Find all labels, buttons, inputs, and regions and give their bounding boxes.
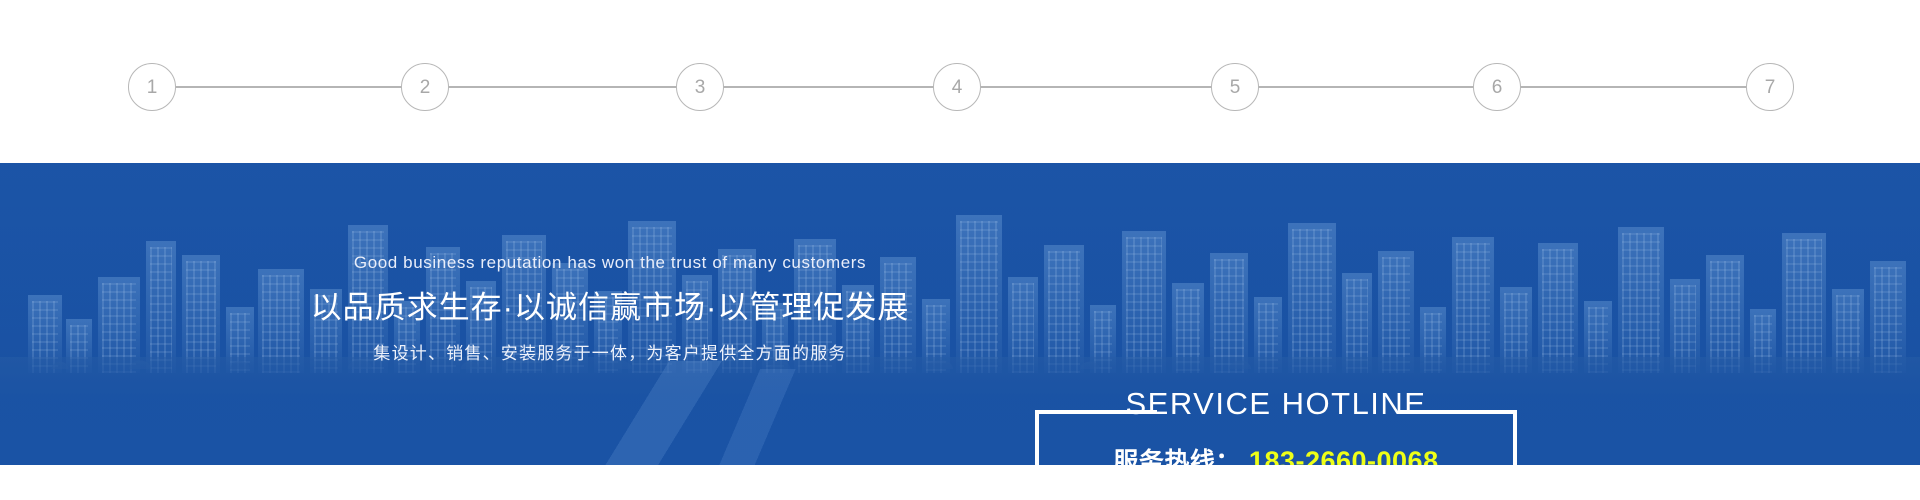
step-circle-6[interactable]: 6	[1473, 63, 1521, 111]
step-circle-4[interactable]: 4	[933, 63, 981, 111]
step-progress-bar: 1 2 3 4 5 6 7	[0, 0, 1920, 163]
step-label-1: 1	[147, 78, 158, 97]
slogan-chinese-headline: 以品质求生存·以诚信赢市场·以管理促发展	[300, 289, 920, 328]
step-label-3: 3	[695, 78, 706, 97]
step-label-7: 7	[1765, 78, 1776, 97]
page-root: 1 2 3 4 5 6 7	[0, 0, 1920, 500]
step-label-5: 5	[1230, 78, 1241, 97]
step-label-2: 2	[420, 78, 431, 97]
hotline-row-primary: 服务热线： 183-2660-0068	[1035, 444, 1517, 465]
promo-banner: Good business reputation has won the tru…	[0, 163, 1920, 465]
foreground-ground	[0, 357, 1920, 465]
step-circle-1[interactable]: 1	[128, 63, 176, 111]
slogan-english: Good business reputation has won the tru…	[300, 251, 920, 275]
step-circle-3[interactable]: 3	[676, 63, 724, 111]
step-label-6: 6	[1492, 78, 1503, 97]
step-label-4: 4	[952, 78, 963, 97]
hotline-numbers: 服务热线： 183-2660-0068 0551-63749777	[1035, 444, 1517, 465]
slogan-block: Good business reputation has won the tru…	[300, 251, 920, 365]
hotline-title: SERVICE HOTLINE	[1035, 388, 1517, 419]
step-circle-7[interactable]: 7	[1746, 63, 1794, 111]
hotline-number-primary[interactable]: 183-2660-0068	[1249, 444, 1439, 465]
hotline-label: 服务热线：	[1113, 446, 1241, 465]
step-circle-2[interactable]: 2	[401, 63, 449, 111]
road-illustration-secondary	[512, 369, 1007, 465]
service-hotline-box: SERVICE HOTLINE 服务热线： 183-2660-0068 0551…	[1035, 410, 1517, 465]
step-circle-5[interactable]: 5	[1211, 63, 1259, 111]
slogan-chinese-sub: 集设计、销售、安装服务于一体，为客户提供全方面的服务	[300, 342, 920, 366]
